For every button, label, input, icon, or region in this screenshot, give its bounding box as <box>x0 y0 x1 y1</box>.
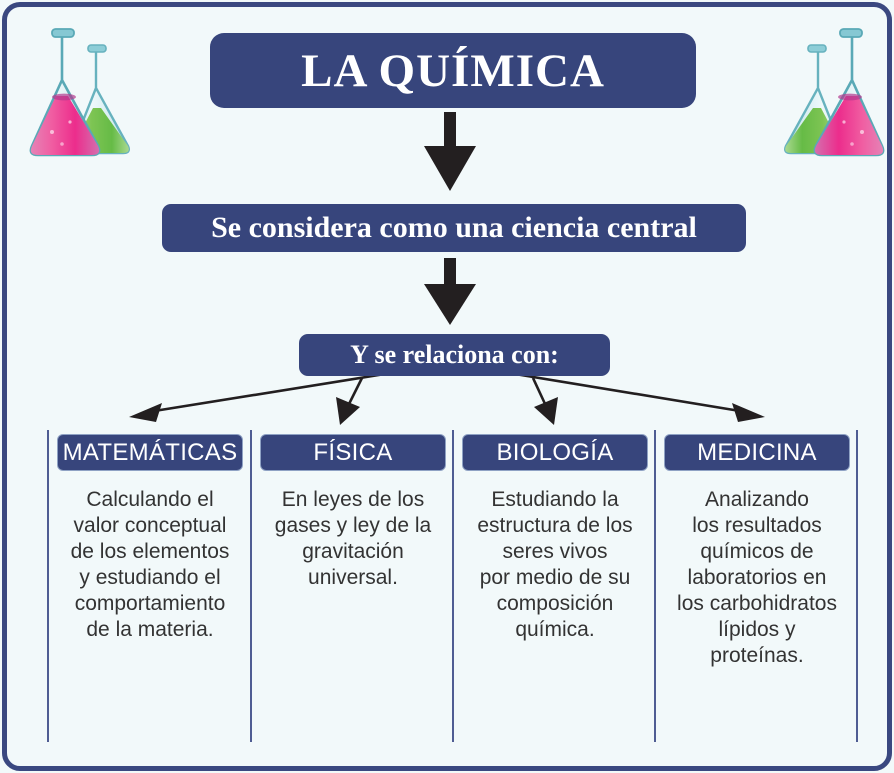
relates-to-box: Y se relaciona con: <box>299 334 610 376</box>
category-body-matematicas: Calculando el valor conceptual de los el… <box>53 487 247 643</box>
category-body-biologia: Estudiando la estructura de los seres vi… <box>458 487 652 643</box>
arrow-relates-to-fisica <box>336 378 362 425</box>
column-divider-3 <box>452 430 454 742</box>
column-divider-5 <box>856 430 858 742</box>
column-divider-4 <box>654 430 656 742</box>
category-header-matematicas[interactable]: MATEMÁTICAS <box>57 434 243 471</box>
category-header-biologia[interactable]: BIOLOGÍA <box>462 434 648 471</box>
central-statement-box: Se considera como una ciencia central <box>162 204 746 252</box>
diagram-canvas: LA QUÍMICA Se considera como una ciencia… <box>0 0 894 773</box>
arrow-relates-to-biologia <box>533 378 558 425</box>
category-body-medicina: Analizando los resultados químicos de la… <box>660 487 854 669</box>
category-body-fisica: En leyes de los gases y ley de la gravit… <box>256 487 450 591</box>
arrow-title-to-central <box>424 112 476 191</box>
category-header-fisica[interactable]: FÍSICA <box>260 434 446 471</box>
arrow-central-to-relates <box>424 258 476 325</box>
page-title: LA QUÍMICA <box>210 33 696 108</box>
column-divider-1 <box>47 430 49 742</box>
category-header-medicina[interactable]: MEDICINA <box>664 434 850 471</box>
column-divider-2 <box>250 430 252 742</box>
